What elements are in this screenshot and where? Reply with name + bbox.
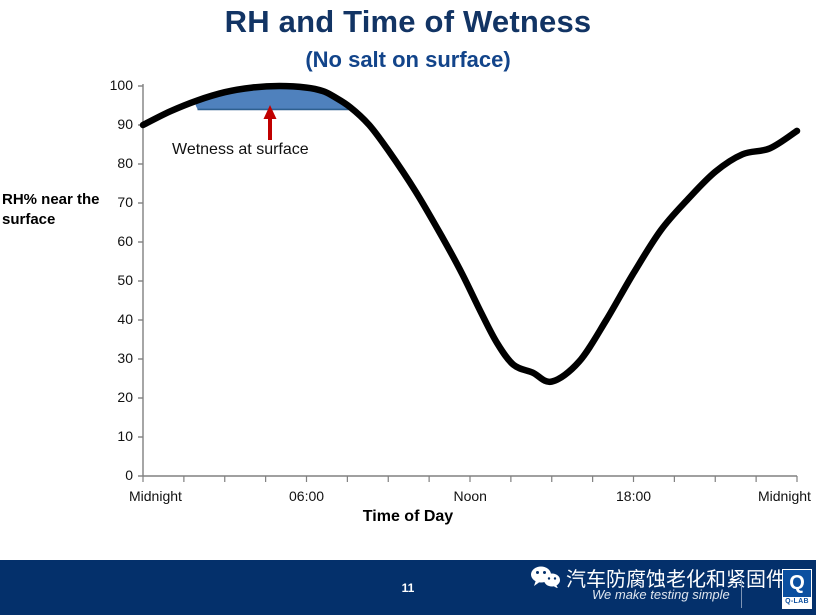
- x-axis-label: Time of Day: [0, 508, 816, 526]
- y-tick-90: 90: [95, 116, 133, 132]
- footer-tagline: We make testing simple: [592, 587, 730, 602]
- x-tick-1: 06:00: [289, 488, 324, 504]
- chart-container: RH% near the surface Time of Day Wetness…: [0, 0, 816, 560]
- x-tick-2: Noon: [454, 488, 487, 504]
- x-tick-0: Midnight: [129, 488, 182, 504]
- y-tick-10: 10: [95, 428, 133, 444]
- footer-divider: [741, 578, 742, 608]
- y-tick-80: 80: [95, 155, 133, 171]
- y-tick-40: 40: [95, 311, 133, 327]
- y-tick-100: 100: [95, 77, 133, 93]
- slide: RH and Time of Wetness (No salt on surfa…: [0, 0, 816, 615]
- y-tick-50: 50: [95, 272, 133, 288]
- wetness-arrow-icon: [264, 105, 277, 140]
- y-tick-60: 60: [95, 233, 133, 249]
- qlab-logo-text: Q-LAB: [782, 598, 812, 605]
- wetness-annotation: Wetness at surface: [172, 141, 309, 159]
- rh-curve: [143, 86, 797, 382]
- y-axis-label: RH% near the surface: [2, 190, 106, 231]
- y-tick-30: 30: [95, 350, 133, 366]
- y-tick-20: 20: [95, 389, 133, 405]
- qlab-logo-letter: Q: [783, 570, 811, 597]
- wetness-shaded-area: [196, 86, 352, 109]
- x-tick-4: Midnight: [758, 488, 811, 504]
- y-tick-70: 70: [95, 194, 133, 210]
- wechat-icon: [530, 566, 560, 588]
- y-tick-0: 0: [95, 467, 133, 483]
- x-tick-3: 18:00: [616, 488, 651, 504]
